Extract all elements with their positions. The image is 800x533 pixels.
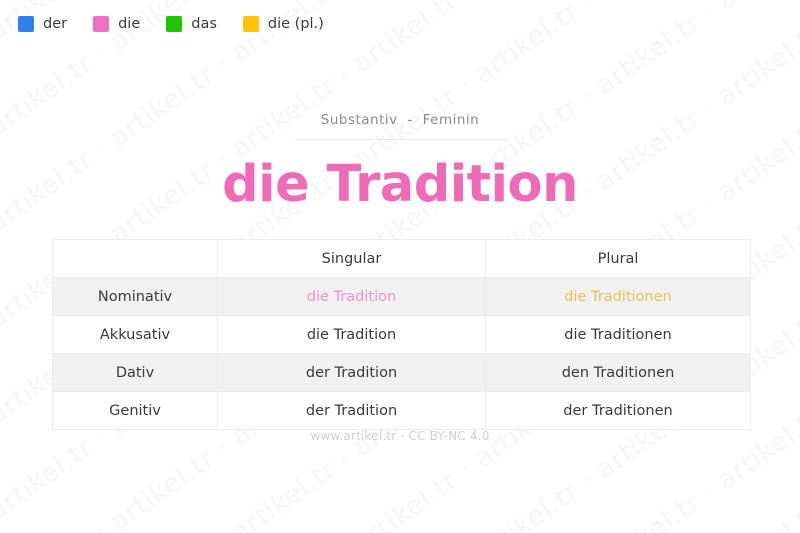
- dativ-plural: den Traditionen: [486, 354, 751, 392]
- legend-label-das: das: [191, 17, 217, 32]
- case-label-dativ: Dativ: [53, 354, 218, 392]
- meta-separator: -: [407, 112, 412, 128]
- legend-label-die: die: [118, 17, 140, 32]
- genitiv-plural: der Traditionen: [486, 392, 751, 430]
- case-label-genitiv: Genitiv: [53, 392, 218, 430]
- part-of-speech-label: Substantiv: [321, 112, 398, 128]
- legend-item-das: das: [166, 16, 217, 32]
- word-header: Substantiv - Feminin die Tradition: [0, 112, 800, 213]
- dativ-singular: der Tradition: [218, 354, 486, 392]
- legend-item-der: der: [18, 16, 67, 32]
- color-swatch-icon-die-plural: [243, 16, 259, 32]
- case-label-nominativ: Nominativ: [53, 278, 218, 316]
- color-swatch-icon-das: [166, 16, 182, 32]
- color-swatch-icon-die: [93, 16, 109, 32]
- table-header-row: Singular Plural: [53, 240, 751, 278]
- page-title: die Tradition: [0, 157, 800, 213]
- table-row: Nominativ die Tradition die Traditionen: [53, 278, 751, 316]
- legend-label-die-plural: die (pl.): [268, 17, 324, 32]
- case-label-akkusativ: Akkusativ: [53, 316, 218, 354]
- column-header-plural: Plural: [486, 240, 751, 278]
- article-color-legend: der die das die (pl.): [18, 16, 324, 32]
- table-row: Genitiv der Tradition der Traditionen: [53, 392, 751, 430]
- nominativ-singular: die Tradition: [218, 278, 486, 316]
- genitiv-singular: der Tradition: [218, 392, 486, 430]
- legend-label-der: der: [43, 17, 67, 32]
- legend-item-die-plural: die (pl.): [243, 16, 324, 32]
- column-header-case: [53, 240, 218, 278]
- page-content: der die das die (pl.) Substantiv - Femin…: [0, 0, 800, 533]
- akkusativ-plural: die Traditionen: [486, 316, 751, 354]
- footer-credit: www.artikel.tr · CC BY-NC 4.0: [0, 429, 800, 443]
- header-divider: [295, 139, 506, 140]
- legend-item-die: die: [93, 16, 140, 32]
- word-meta: Substantiv - Feminin: [0, 112, 800, 128]
- akkusativ-singular: die Tradition: [218, 316, 486, 354]
- declension-table: Singular Plural Nominativ die Tradition …: [52, 239, 751, 430]
- column-header-singular: Singular: [218, 240, 486, 278]
- table-row: Dativ der Tradition den Traditionen: [53, 354, 751, 392]
- gender-label: Feminin: [423, 112, 480, 128]
- color-swatch-icon-der: [18, 16, 34, 32]
- table-row: Akkusativ die Tradition die Traditionen: [53, 316, 751, 354]
- nominativ-plural: die Traditionen: [486, 278, 751, 316]
